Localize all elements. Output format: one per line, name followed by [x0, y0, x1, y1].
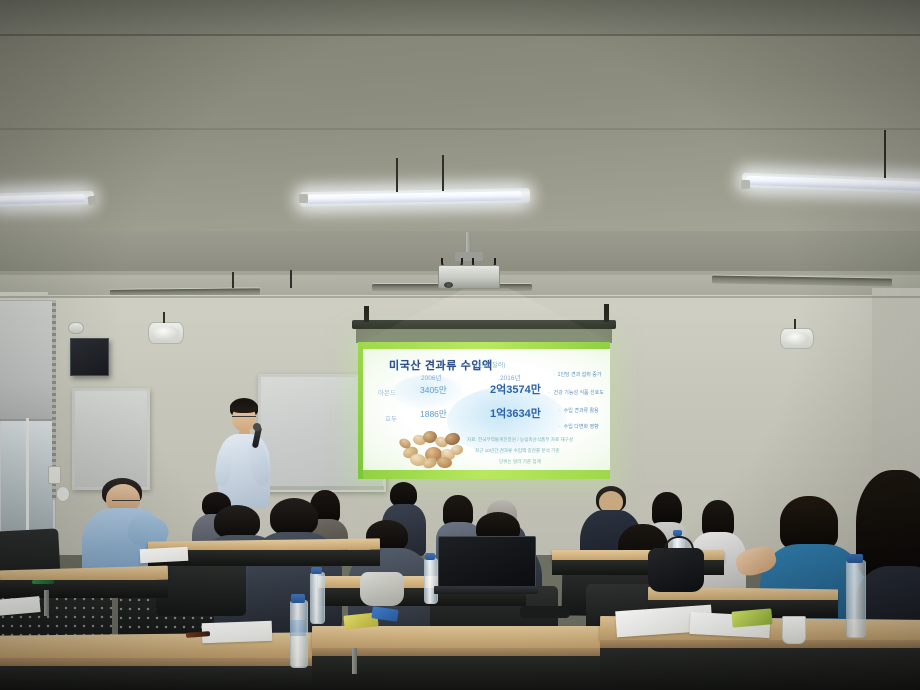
slide-bullet-4: 수입 다변화 영향	[559, 423, 599, 430]
wall-mounted-device	[70, 338, 109, 376]
lecture-hall-photo: 미국산 견과류 수입액 (단위: 달러) 2006년 2016년 아몬드 340…	[0, 0, 920, 690]
bottle-label-1	[290, 620, 306, 636]
light-hanger-1	[396, 158, 398, 192]
chair-4[interactable]	[156, 560, 246, 616]
microphone-head	[253, 423, 261, 431]
paper-cup[interactable]	[782, 616, 806, 644]
slide-row-1-new-value: 2억3574만	[490, 381, 541, 397]
projector-pole	[466, 232, 471, 254]
wall-speaker-right	[780, 328, 814, 349]
bag-2[interactable]	[360, 572, 404, 606]
chair-armrest[interactable]	[520, 606, 570, 618]
water-bottle-3[interactable]	[424, 558, 438, 604]
laptop-screen[interactable]	[438, 536, 536, 590]
handbag-1[interactable]	[648, 548, 704, 592]
slide-title-unit: (단위: 달러)	[476, 360, 505, 369]
bottle-cap-5	[847, 554, 863, 563]
wall-speaker-left	[148, 322, 184, 344]
ceiling-seam-1	[0, 34, 920, 36]
light-endcap-3	[741, 180, 750, 189]
desk-left-mid-front	[0, 580, 168, 598]
slide-footnote-3: 단위는 달러 기준 집계	[499, 459, 541, 465]
smoke-detector-icon	[68, 322, 84, 334]
slide-row-2-old-value: 1886만	[420, 408, 447, 420]
slide-row-2-new-value: 1억3634만	[490, 405, 541, 421]
slide-row-label-2: 호두	[385, 413, 397, 423]
speaker-bracket-left	[163, 312, 165, 323]
water-bottle-5[interactable]	[846, 560, 866, 638]
projection-screen: 미국산 견과류 수입액 (단위: 달러) 2006년 2016년 아몬드 340…	[358, 342, 610, 479]
slide-bullet-2: 건강 기능성 식품 선호도	[549, 389, 604, 396]
recessed-hanger-2	[290, 270, 292, 288]
papers-1[interactable]	[140, 547, 189, 563]
slide-row-1-old-value: 3405만	[420, 384, 447, 396]
desk-front-left-apron	[0, 666, 320, 690]
desk-front-center-apron	[312, 656, 612, 690]
speaker-bracket-right	[794, 319, 796, 329]
slide-background-wash	[447, 387, 567, 455]
projector-lens-icon	[444, 282, 453, 288]
ceiling-seam-2	[0, 128, 920, 130]
window-blind[interactable]	[0, 301, 55, 421]
bottle-cap-2	[311, 567, 322, 574]
recessed-hanger-1	[232, 272, 234, 288]
slide-bullet-3: 수입 견과류 활용	[559, 407, 599, 414]
nuts-photo	[397, 427, 465, 469]
slide-footnote-1: 자료: 한국무역통계진흥원 / 농림축산식품부 자료 재구성	[467, 437, 573, 443]
wall-outlet[interactable]	[48, 466, 61, 484]
ceiling-fluorescent-1	[0, 191, 94, 208]
pen-2[interactable]	[32, 580, 54, 584]
screen-mount-right	[604, 304, 609, 322]
slide-bullet-1: 1인당 견과 섭취 증가	[553, 371, 601, 378]
ceiling-soffit-1	[0, 222, 920, 231]
presenter-hair-top	[230, 400, 258, 413]
desk-front-center	[312, 626, 612, 650]
light-endcap-2	[299, 194, 308, 203]
slide-content: 미국산 견과류 수입액 (단위: 달러) 2006년 2016년 아몬드 340…	[363, 349, 610, 470]
screen-mount-left	[364, 306, 369, 322]
ceiling-band-top	[0, 0, 920, 34]
bottle-cap-1	[291, 594, 305, 603]
window-mullion	[26, 418, 29, 532]
whiteboard-secondary	[72, 388, 150, 490]
slide-column-year-1: 2006년	[421, 372, 441, 382]
slide-footnote-2: 최근 10년간 견과류 수입액 증감률 분석 기준	[475, 448, 560, 454]
glasses-icon	[232, 416, 256, 421]
light-endcap-1	[87, 195, 97, 205]
light-hanger-2	[442, 155, 444, 191]
bottle-cap-3	[425, 553, 435, 560]
water-bottle-2[interactable]	[310, 572, 325, 624]
laptop-base[interactable]	[434, 586, 538, 594]
desk-leg-2	[44, 590, 49, 616]
desk-leg-1	[352, 648, 357, 674]
slide-border-bottom	[358, 470, 610, 479]
light-hanger-3	[884, 130, 886, 178]
slide-row-label-1: 아몬드	[378, 387, 396, 397]
desk-front-right-apron	[600, 648, 920, 690]
wall-junction	[56, 486, 70, 502]
papers-3[interactable]	[202, 621, 273, 643]
